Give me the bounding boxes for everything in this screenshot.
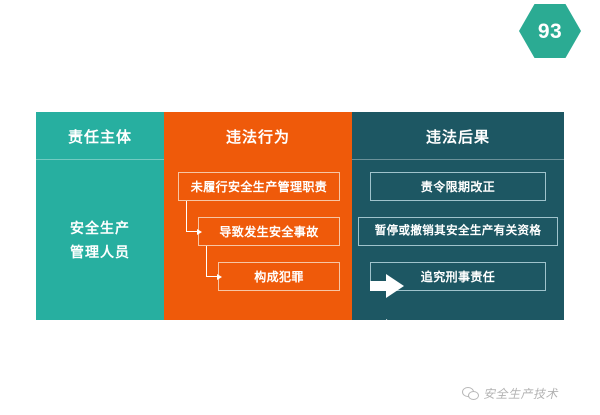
wechat-bubble-small: [468, 391, 479, 400]
subject-label: 安全生产 管理人员: [36, 160, 164, 320]
connector-vertical-segment: [206, 246, 207, 277]
block-arrow-icon-row-1: [370, 274, 404, 298]
arrow-head: [386, 364, 404, 388]
connector-arrowhead-icon: [197, 229, 202, 235]
column-illegal-act: 违法行为 未履行安全生产管理职责 导致发生安全事故 构成犯罪: [164, 112, 352, 320]
subject-label-line2: 管理人员: [70, 240, 130, 265]
column-header-consequence: 违法后果: [352, 112, 564, 160]
block-arrow-icon-row-2: [370, 319, 404, 343]
connector-arrow-act-2-to-3: [206, 246, 218, 277]
connector-arrowhead-icon: [217, 274, 222, 280]
column-header-responsible-subject: 责任主体: [36, 112, 164, 160]
connector-arrow-act-1-to-2: [186, 201, 198, 232]
consequence-box-1: 责令限期改正: [370, 172, 546, 201]
column-responsible-subject: 责任主体 安全生产 管理人员: [36, 112, 164, 320]
arrow-head: [386, 274, 404, 298]
wechat-icon: [462, 387, 478, 400]
act-box-1: 未履行安全生产管理职责: [178, 172, 340, 201]
page-number-text: 93: [538, 21, 562, 42]
act-box-3: 构成犯罪: [218, 262, 340, 291]
act-box-2: 导致发生安全事故: [198, 217, 340, 246]
arrow-head: [386, 319, 404, 343]
liability-flow-table: 责任主体 安全生产 管理人员 违法行为 未履行安全生产管理职责 导致发生安全事故…: [36, 112, 564, 320]
column-header-illegal-act: 违法行为: [164, 112, 352, 160]
watermark: 安全生产技术: [462, 385, 558, 402]
hexagon-shape: 93: [519, 4, 581, 58]
page-number-badge: 93: [519, 4, 581, 58]
subject-label-line1: 安全生产: [70, 216, 130, 241]
connector-vertical-segment: [186, 201, 187, 232]
block-arrow-icon-row-3: [370, 364, 404, 388]
watermark-text: 安全生产技术: [483, 385, 558, 402]
consequence-box-2: 暂停或撤销其安全生产有关资格: [358, 217, 558, 246]
